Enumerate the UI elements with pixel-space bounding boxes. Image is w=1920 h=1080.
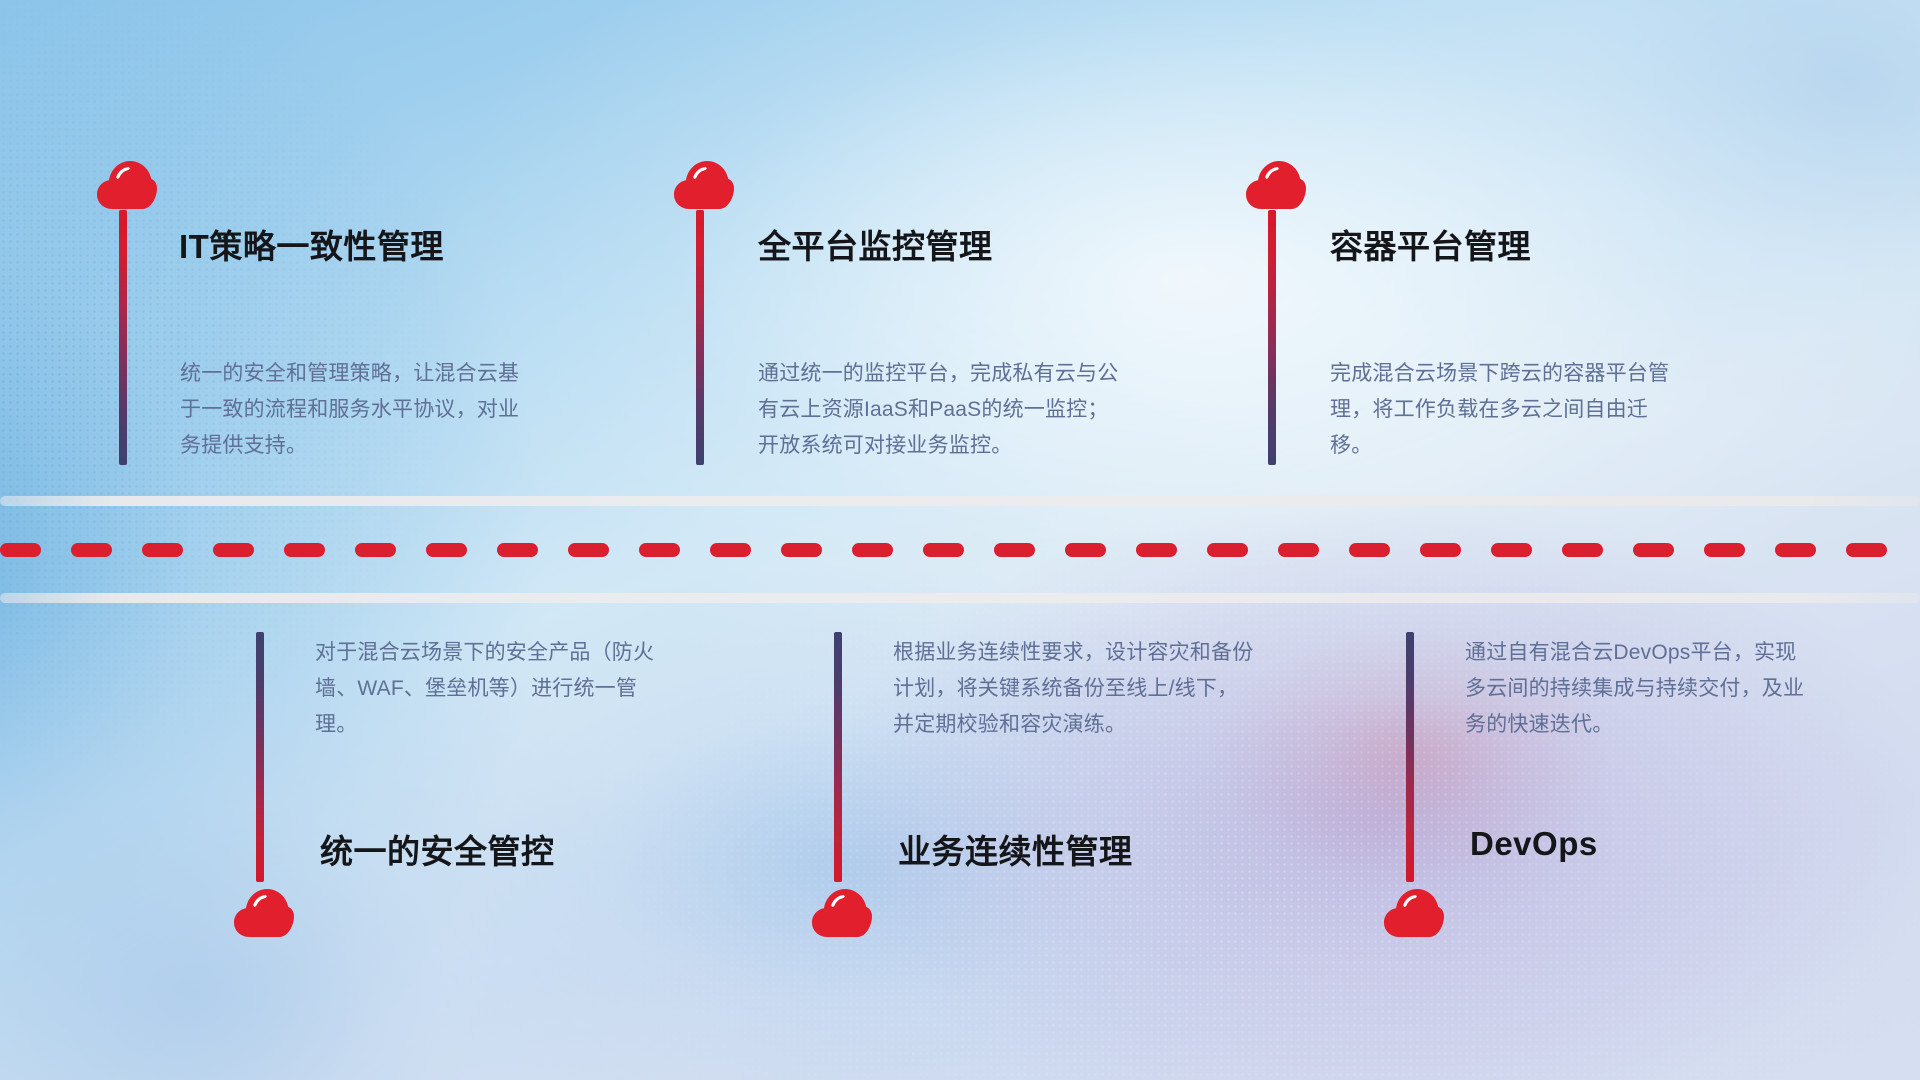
divider-dash bbox=[426, 543, 467, 557]
column-description: 完成混合云场景下跨云的容器平台管理，将工作负载在多云之间自由迁移。 bbox=[1330, 356, 1682, 464]
connector-stem bbox=[834, 632, 842, 882]
column-description: 根据业务连续性要求，设计容灾和备份计划，将关键系统备份至线上/线下，并定期校验和… bbox=[893, 635, 1257, 743]
cloud-icon bbox=[1383, 888, 1445, 938]
divider-dash bbox=[1562, 543, 1603, 557]
column-title: 统一的安全管控 bbox=[320, 825, 555, 873]
divider-line-bottom bbox=[0, 593, 1920, 603]
divider-dash bbox=[1775, 543, 1816, 557]
connector-stem bbox=[1406, 632, 1414, 882]
connector-stem bbox=[119, 210, 127, 465]
divider-dash bbox=[923, 543, 964, 557]
divider-dash bbox=[1065, 543, 1106, 557]
divider-dash bbox=[852, 543, 893, 557]
divider-dash bbox=[213, 543, 254, 557]
divider-dash bbox=[0, 543, 41, 557]
cloud-icon bbox=[96, 160, 158, 210]
connector-stem bbox=[696, 210, 704, 465]
divider-dash bbox=[497, 543, 538, 557]
column-description: 对于混合云场景下的安全产品（防火墙、WAF、堡垒机等）进行统一管理。 bbox=[315, 635, 667, 743]
divider-dash bbox=[1207, 543, 1248, 557]
divider-dash bbox=[1846, 543, 1887, 557]
divider-dash bbox=[1349, 543, 1390, 557]
divider-dash bbox=[1278, 543, 1319, 557]
divider-dash bbox=[355, 543, 396, 557]
divider-dash bbox=[1420, 543, 1461, 557]
column-title: IT策略一致性管理 bbox=[179, 220, 444, 268]
column-description: 通过自有混合云DevOps平台，实现多云间的持续集成与持续交付，及业务的快速迭代… bbox=[1465, 635, 1817, 743]
cloud-icon bbox=[1245, 160, 1307, 210]
cloud-icon bbox=[811, 888, 873, 938]
divider-dash bbox=[710, 543, 751, 557]
column-description: 通过统一的监控平台，完成私有云与公有云上资源IaaS和PaaS的统一监控；开放系… bbox=[758, 356, 1122, 464]
divider-dash bbox=[1704, 543, 1745, 557]
connector-stem bbox=[256, 632, 264, 882]
infographic-canvas: IT策略一致性管理 统一的安全和管理策略，让混合云基于一致的流程和服务水平协议，… bbox=[0, 0, 1920, 1080]
divider-dash bbox=[639, 543, 680, 557]
divider-dash bbox=[1136, 543, 1177, 557]
column-description: 统一的安全和管理策略，让混合云基于一致的流程和服务水平协议，对业务提供支持。 bbox=[180, 356, 532, 464]
divider-dash bbox=[568, 543, 609, 557]
divider-dash bbox=[284, 543, 325, 557]
connector-stem bbox=[1268, 210, 1276, 465]
dashed-road-divider bbox=[0, 543, 1920, 557]
divider-dash bbox=[142, 543, 183, 557]
column-title: DevOps bbox=[1470, 825, 1598, 863]
column-title: 全平台监控管理 bbox=[758, 220, 993, 268]
divider-dash bbox=[781, 543, 822, 557]
column-title: 业务连续性管理 bbox=[898, 825, 1133, 873]
cloud-icon bbox=[233, 888, 295, 938]
divider-line-top bbox=[0, 496, 1920, 506]
divider-dash bbox=[1491, 543, 1532, 557]
divider-dash bbox=[1633, 543, 1674, 557]
cloud-icon bbox=[673, 160, 735, 210]
divider-dash bbox=[994, 543, 1035, 557]
column-title: 容器平台管理 bbox=[1330, 220, 1531, 268]
divider-dash bbox=[71, 543, 112, 557]
